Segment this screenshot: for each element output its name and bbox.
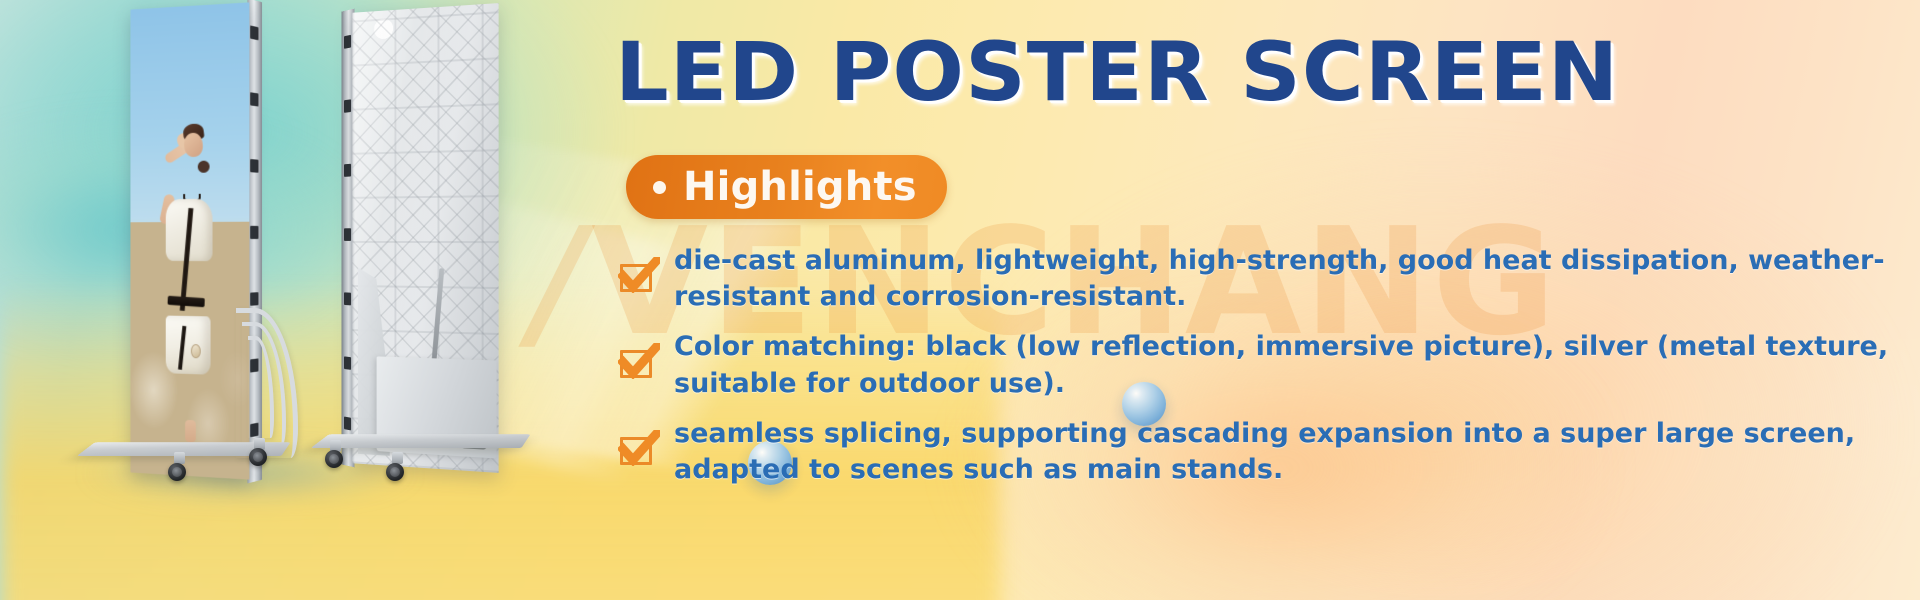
list-item-label: die-cast aluminum, lightweight, high-str…: [674, 243, 1916, 315]
led-poster-screen-front-view: [130, 2, 249, 479]
list-item-label: seamless splicing, supporting cascading …: [674, 416, 1916, 488]
highlights-feature-list: die-cast aluminum, lightweight, high-str…: [618, 243, 1918, 502]
led-poster-screen-rear-view: [352, 3, 498, 473]
highlights-badge: Highlights: [626, 155, 947, 219]
rear-caster-left: [386, 463, 404, 481]
list-item: Color matching: black (low reflection, i…: [618, 329, 1918, 401]
list-item: seamless splicing, supporting cascading …: [618, 416, 1918, 488]
banner-content: LED POSTER SCREEN Highlights die-cast al…: [612, 0, 1920, 600]
front-caster-right: [249, 448, 267, 466]
front-unit-decorative-leg: [236, 308, 298, 458]
list-item-label: Color matching: black (low reflection, i…: [674, 329, 1916, 401]
rear-caster-right: [325, 450, 343, 468]
rear-cabinet-panel: [352, 3, 498, 473]
bullet-dot-icon: [653, 181, 666, 194]
led-poster-screen-banner: /VENCHANG: [0, 0, 1920, 600]
highlights-badge-label: Highlights: [683, 164, 917, 210]
checkbox-check-icon: [618, 256, 660, 296]
rear-unit-base-plate: [311, 434, 531, 448]
checkbox-check-icon: [618, 429, 660, 469]
led-display-surface: [130, 2, 249, 479]
page-title: LED POSTER SCREEN: [615, 33, 1920, 114]
list-item: die-cast aluminum, lightweight, high-str…: [618, 243, 1918, 315]
checkbox-check-icon: [618, 342, 660, 382]
front-caster-left: [168, 463, 186, 481]
displayed-content-model: [130, 2, 249, 479]
product-image-group: [0, 0, 600, 600]
